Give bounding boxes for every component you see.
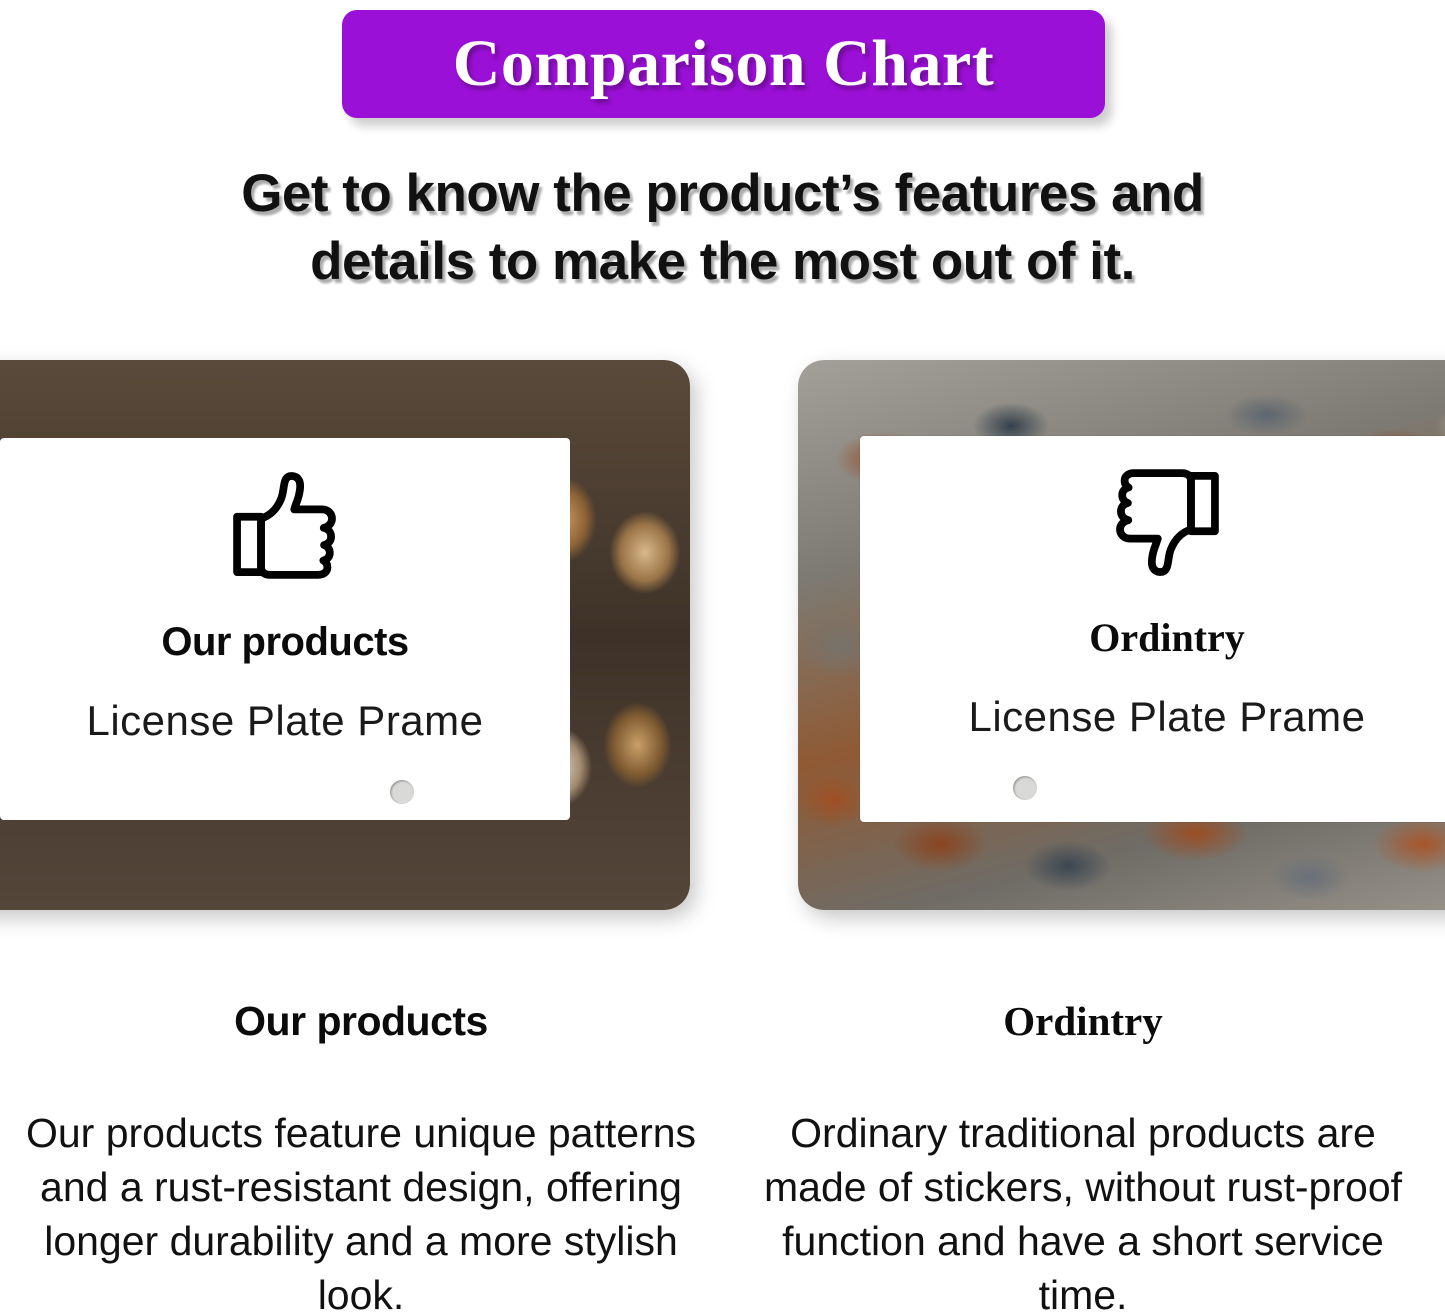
screw-hole-icon [390, 780, 414, 804]
ordinary-product-description: Ordinary traditional products are made o… [744, 1106, 1422, 1314]
subtitle-line-1: Get to know the product’s features and [0, 160, 1445, 228]
comparison-chart-page: Comparison Chart Get to know the product… [0, 0, 1445, 1314]
our-product-name: Our products [161, 620, 408, 664]
our-product-heading: Our products [22, 999, 700, 1044]
our-product-subtitle: License Plate Prame [86, 698, 483, 744]
product-cards-row: Our products License Plate Prame O [0, 360, 1445, 920]
thumbs-up-icon [226, 470, 344, 582]
page-subtitle: Get to know the product’s features and d… [0, 160, 1445, 296]
ordinary-product-name: Ordintry [1089, 616, 1245, 660]
our-product-card: Our products License Plate Prame [0, 360, 690, 910]
ordinary-product-card: Ordintry License Plate Prame [798, 360, 1445, 910]
ordinary-product-plate-content: Ordintry License Plate Prame [860, 466, 1445, 740]
our-product-description: Our products feature unique patterns and… [22, 1106, 700, 1314]
ordinary-product-description-column: Ordintry Ordinary traditional products a… [722, 985, 1444, 1314]
our-product-plate-content: Our products License Plate Prame [0, 470, 570, 744]
title-banner: Comparison Chart [342, 10, 1105, 118]
ordinary-product-heading: Ordintry [744, 999, 1422, 1044]
descriptions-row: Our products Our products feature unique… [0, 985, 1445, 1314]
page-title: Comparison Chart [453, 31, 995, 97]
ordinary-product-subtitle: License Plate Prame [968, 694, 1365, 740]
thumbs-down-icon [1108, 466, 1226, 578]
subtitle-line-2: details to make the most out of it. [0, 228, 1445, 296]
our-product-description-column: Our products Our products feature unique… [0, 985, 722, 1314]
screw-hole-icon [1013, 776, 1037, 800]
